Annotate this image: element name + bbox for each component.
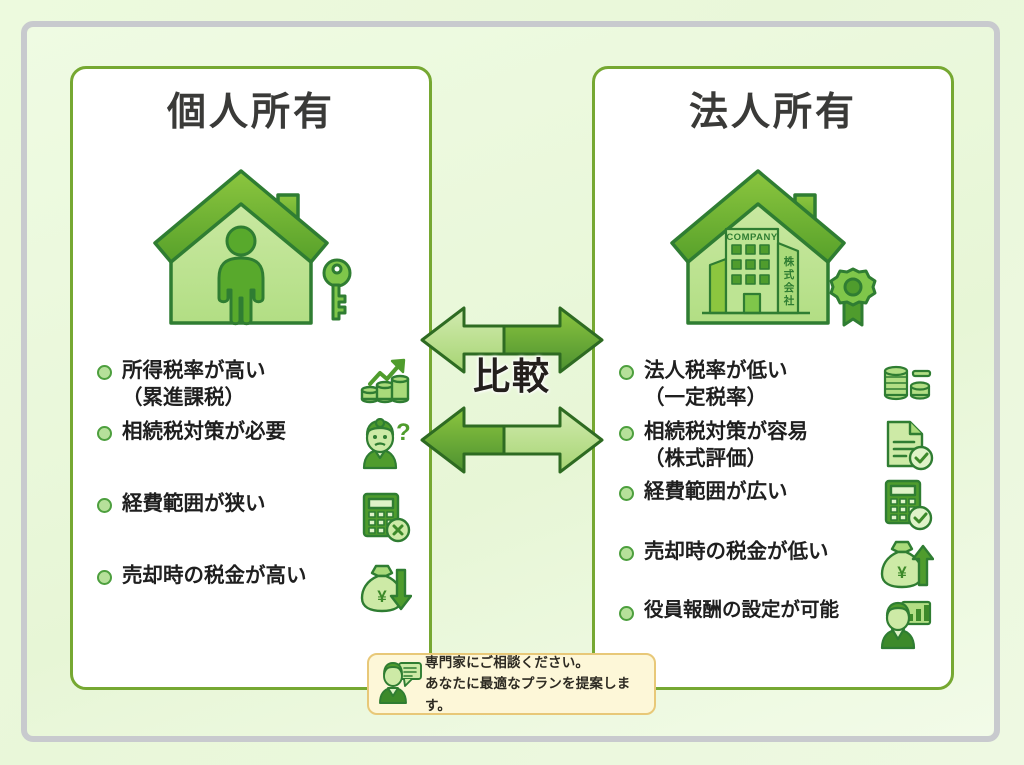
coin-stacks-icon: [879, 357, 935, 411]
page-title-individual: 個人所有: [73, 93, 429, 132]
bullet-marker-icon: [97, 498, 112, 513]
svg-text:¥: ¥: [377, 587, 387, 606]
panel-corporate-ownership: 法人所有: [592, 66, 954, 690]
bullet-marker-icon: [619, 546, 634, 561]
list-item-label: 相続税対策が必要: [122, 418, 355, 445]
svg-text:株: 株: [784, 255, 795, 268]
document-check-icon: [879, 418, 935, 472]
svg-text:社: 社: [783, 294, 795, 307]
list-item-label: 役員報酬の設定が可能: [644, 598, 877, 624]
list-item: 役員報酬の設定が可能: [619, 598, 935, 652]
house-with-company-building-and-award-icon: COMPANY 株 式 会 社: [595, 161, 951, 351]
building-label-text: COMPANY: [726, 232, 778, 243]
calculator-cross-icon: [357, 490, 413, 544]
svg-text:会: 会: [784, 281, 795, 294]
rising-chart-coins-icon: [357, 357, 413, 411]
house-with-person-and-key-icon: [73, 161, 429, 351]
list-item-label: 法人税率が低い （一定税率）: [644, 357, 877, 412]
bullet-marker-icon: [619, 606, 634, 621]
list-item: 相続税対策が容易 （株式評価）: [619, 418, 935, 473]
page-title-corporate: 法人所有: [595, 93, 951, 132]
panel-individual-ownership: 個人所有: [70, 66, 432, 690]
bullet-marker-icon: [97, 365, 112, 380]
benefit-list-corporate: 法人税率が低い （一定税率）: [619, 357, 935, 658]
bullet-marker-icon: [619, 486, 634, 501]
worried-elder-question-icon: ?: [357, 418, 413, 472]
list-item: 相続税対策が必要 ?: [97, 418, 413, 472]
list-item-label: 相続税対策が容易 （株式評価）: [644, 418, 877, 473]
money-bag-up-arrow-icon: ¥: [879, 538, 935, 592]
comparison-label: 比較: [416, 358, 608, 395]
money-bag-down-arrow-icon: ¥: [357, 562, 413, 616]
list-item-label: 売却時の税金が低い: [644, 538, 877, 565]
list-item-label: 経費範囲が広い: [644, 478, 877, 505]
bullet-marker-icon: [619, 426, 634, 441]
consultant-speech-bubble-icon: [377, 659, 425, 710]
benefit-list-individual: 所得税率が高い （累進課税）: [97, 357, 413, 622]
comparison-arrows-group: 比較: [416, 300, 608, 480]
svg-text:?: ?: [396, 419, 411, 446]
bullet-marker-icon: [619, 365, 634, 380]
svg-text:式: 式: [784, 268, 795, 281]
list-item-label: 売却時の税金が高い: [122, 562, 355, 589]
list-item-label: 経費範囲が狭い: [122, 490, 355, 517]
consultation-callout[interactable]: 専門家にご相談ください。 あなたに最適なプランを提案します。: [367, 653, 656, 715]
list-item: 所得税率が高い （累進課税）: [97, 357, 413, 412]
list-item: 売却時の税金が低い ¥: [619, 538, 935, 592]
list-item: 経費範囲が狭い: [97, 490, 413, 544]
svg-text:¥: ¥: [897, 563, 907, 582]
businessperson-chart-icon: [879, 598, 935, 652]
list-item: 売却時の税金が高い ¥: [97, 562, 413, 616]
bullet-marker-icon: [97, 426, 112, 441]
infographic-stage: 個人所有: [0, 0, 1024, 765]
list-item: 法人税率が低い （一定税率）: [619, 357, 935, 412]
calculator-check-icon: [879, 478, 935, 532]
list-item: 経費範囲が広い: [619, 478, 935, 532]
list-item-label: 所得税率が高い （累進課税）: [122, 357, 355, 412]
bullet-marker-icon: [97, 570, 112, 585]
consultation-message: 専門家にご相談ください。 あなたに最適なプランを提案します。: [425, 652, 646, 717]
